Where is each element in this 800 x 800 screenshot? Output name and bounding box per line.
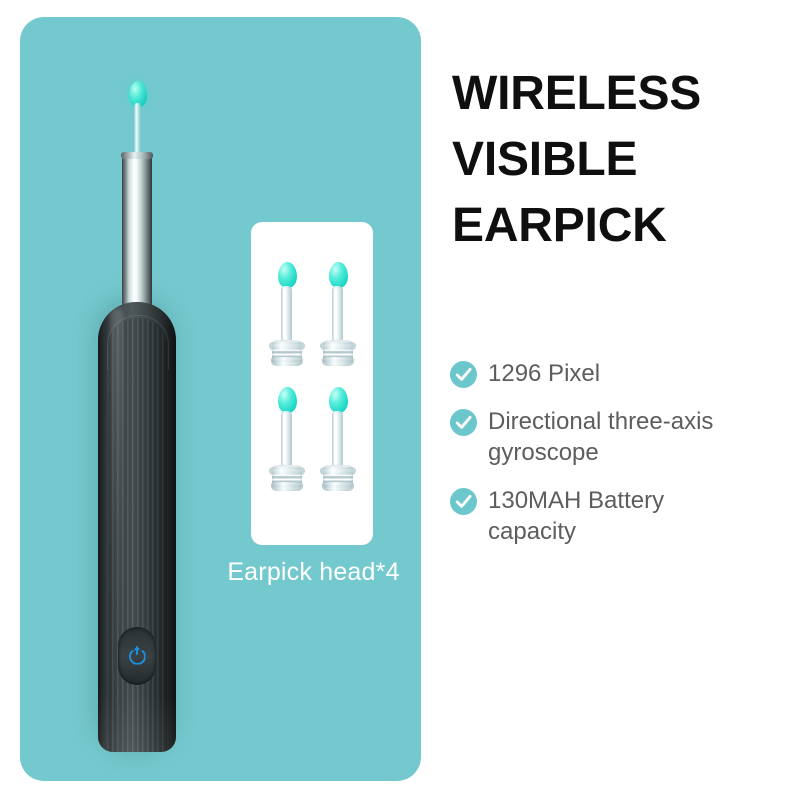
feature-line-1: 130MAH Battery xyxy=(488,487,664,514)
head-stem xyxy=(281,286,292,344)
earpick-head-item xyxy=(318,387,358,503)
headline-line-1: WIRELESS xyxy=(452,61,782,127)
head-collar xyxy=(323,340,353,366)
head-collar xyxy=(323,465,353,491)
check-circle-icon xyxy=(450,409,477,436)
product-banner: Earpick head*4 WIRELESS VISIBLE EARPICK … xyxy=(0,0,800,800)
silicone-tip-icon xyxy=(329,262,348,288)
replacement-heads-card xyxy=(251,222,373,545)
page-title: WIRELESS VISIBLE EARPICK xyxy=(452,61,782,259)
feature-line-2: gyroscope xyxy=(488,437,778,468)
feature-text: Directional three-axis gyroscope xyxy=(488,406,778,468)
headline-line-3: EARPICK xyxy=(452,193,782,259)
feature-text: 130MAH Battery capacity xyxy=(488,485,778,547)
headline-line-2: VISIBLE xyxy=(452,127,782,193)
power-icon xyxy=(129,648,146,665)
earpick-head-item xyxy=(267,262,307,378)
feature-line-1: 1296 Pixel xyxy=(488,360,600,387)
earpick-head-item xyxy=(318,262,358,378)
feature-list: 1296 Pixel Directional three-axis gyrosc… xyxy=(450,358,780,564)
shaft-collar xyxy=(121,152,153,159)
earpick-device xyxy=(78,57,198,767)
silicone-tip-icon xyxy=(278,387,297,413)
feature-item-battery: 130MAH Battery capacity xyxy=(450,485,780,547)
power-button[interactable] xyxy=(118,627,156,685)
feature-item-pixel: 1296 Pixel xyxy=(450,358,780,389)
silicone-tip-icon xyxy=(278,262,297,288)
accessory-caption: Earpick head*4 xyxy=(201,558,426,587)
probe-stem xyxy=(134,103,141,159)
replacement-heads-grid xyxy=(251,222,373,545)
silicone-tip-icon xyxy=(329,387,348,413)
feature-line-2: capacity xyxy=(488,516,778,547)
feature-line-1: Directional three-axis xyxy=(488,408,713,435)
head-stem xyxy=(332,286,343,344)
head-stem xyxy=(332,411,343,469)
head-stem xyxy=(281,411,292,469)
head-collar xyxy=(272,340,302,366)
check-circle-icon xyxy=(450,361,477,388)
device-handle xyxy=(98,302,176,752)
feature-text: 1296 Pixel xyxy=(488,358,778,389)
product-image-panel: Earpick head*4 xyxy=(20,17,421,781)
check-circle-icon xyxy=(450,488,477,515)
chrome-shaft-icon xyxy=(122,154,152,314)
earpick-head-item xyxy=(267,387,307,503)
feature-item-gyroscope: Directional three-axis gyroscope xyxy=(450,406,780,468)
head-collar xyxy=(272,465,302,491)
handle-bottom-sheen xyxy=(98,692,176,752)
